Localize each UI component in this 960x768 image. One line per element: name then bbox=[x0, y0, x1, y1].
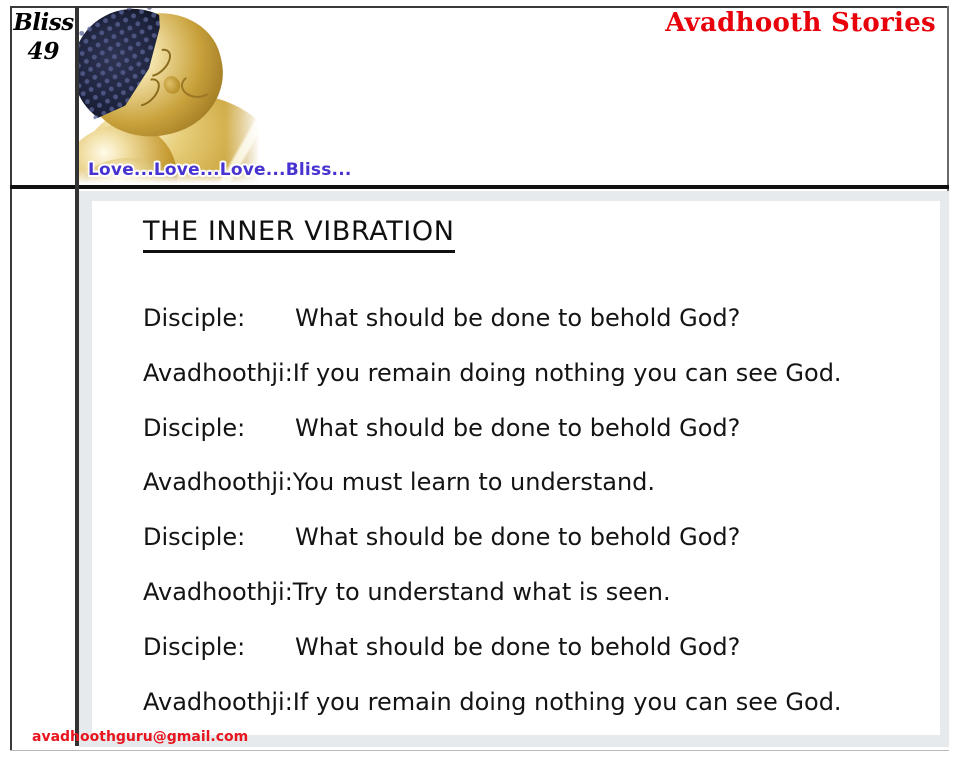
dialogue-list: Disciple:What should be done to behold G… bbox=[143, 303, 933, 741]
slide-root: Bliss 49 Love...Love...Love...Bliss... A… bbox=[0, 0, 960, 768]
dialogue-text: What should be done to behold God? bbox=[295, 632, 740, 662]
dialogue-line: Avadhoothji:Try to understand what is se… bbox=[143, 577, 933, 632]
banner-tagline: Love...Love...Love...Bliss... bbox=[88, 160, 352, 180]
series-label: Bliss bbox=[12, 8, 75, 37]
dialogue-speaker: Avadhoothji: bbox=[143, 687, 293, 717]
series-badge: Bliss 49 bbox=[12, 8, 75, 67]
dialogue-text: Try to understand what is seen. bbox=[293, 577, 671, 607]
dialogue-speaker: Disciple: bbox=[143, 522, 295, 552]
dialogue-text: What should be done to behold God? bbox=[295, 522, 740, 552]
dialogue-speaker: Avadhoothji: bbox=[143, 358, 293, 388]
dialogue-line: Avadhoothji: If you remain doing nothing… bbox=[143, 687, 933, 742]
dialogue-speaker: Disciple: bbox=[143, 632, 295, 662]
buddha-nose bbox=[161, 73, 184, 96]
dialogue-line: Disciple:What should be done to behold G… bbox=[143, 303, 933, 358]
dialogue-line: Avadhoothji: If you remain doing nothing… bbox=[143, 358, 933, 413]
section-heading: THE INNER VIBRATION bbox=[143, 216, 455, 253]
slide-page-number: 49 bbox=[12, 37, 75, 66]
image-fade-right bbox=[225, 8, 265, 185]
dialogue-text: You must learn to understand. bbox=[293, 467, 655, 497]
dialogue-speaker: Disciple: bbox=[143, 413, 295, 443]
dialogue-speaker: Avadhoothji: bbox=[143, 577, 293, 607]
dialogue-text: What should be done to behold God? bbox=[295, 303, 740, 333]
buddha-mouth bbox=[180, 73, 214, 99]
dialogue-text: If you remain doing nothing you can see … bbox=[293, 358, 842, 388]
page-title: Avadhooth Stories bbox=[665, 8, 936, 38]
dialogue-speaker: Disciple: bbox=[143, 303, 295, 333]
banner-divider bbox=[10, 185, 949, 189]
frame-left-border bbox=[10, 6, 12, 751]
contact-email[interactable]: avadhoothguru@gmail.com bbox=[32, 729, 248, 745]
dialogue-line: Disciple:What should be done to behold G… bbox=[143, 413, 933, 468]
dialogue-line: Disciple:What should be done to behold G… bbox=[143, 632, 933, 687]
dialogue-text: If you remain doing nothing you can see … bbox=[293, 687, 842, 717]
dialogue-line: Disciple:What should be done to behold G… bbox=[143, 522, 933, 577]
dialogue-line: Avadhoothji: You must learn to understan… bbox=[143, 467, 933, 522]
dialogue-text: What should be done to behold God? bbox=[295, 413, 740, 443]
frame-bottom-border bbox=[10, 750, 949, 751]
dialogue-speaker: Avadhoothji: bbox=[143, 467, 293, 497]
reclining-buddha-image bbox=[79, 8, 265, 185]
